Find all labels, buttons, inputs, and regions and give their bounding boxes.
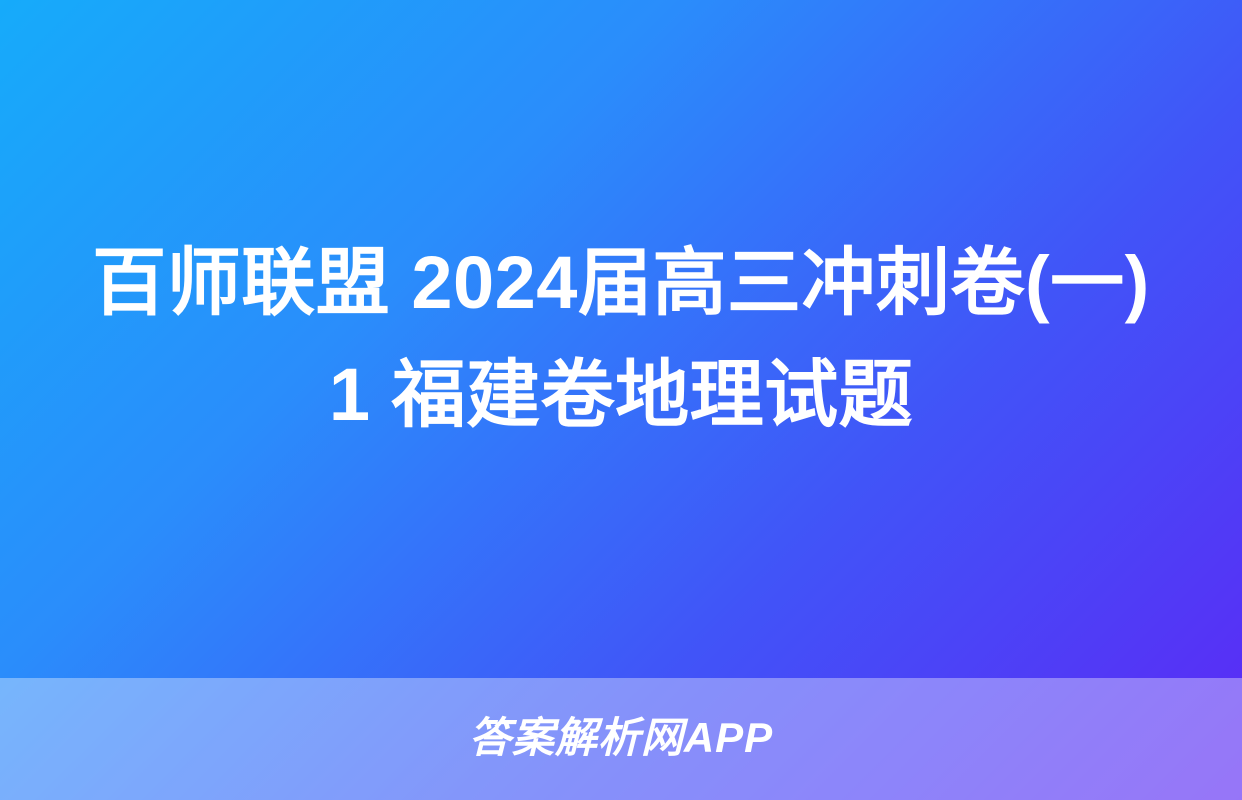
hero-section: 百师联盟 2024届高三冲刺卷(一)1 福建卷地理试题 xyxy=(0,0,1242,678)
share-card: 百师联盟 2024届高三冲刺卷(一)1 福建卷地理试题 答案解析网APP xyxy=(0,0,1242,800)
page-title: 百师联盟 2024届高三冲刺卷(一)1 福建卷地理试题 xyxy=(78,227,1164,452)
footer-band: 答案解析网APP xyxy=(0,678,1242,800)
app-watermark: 答案解析网APP xyxy=(469,717,773,759)
